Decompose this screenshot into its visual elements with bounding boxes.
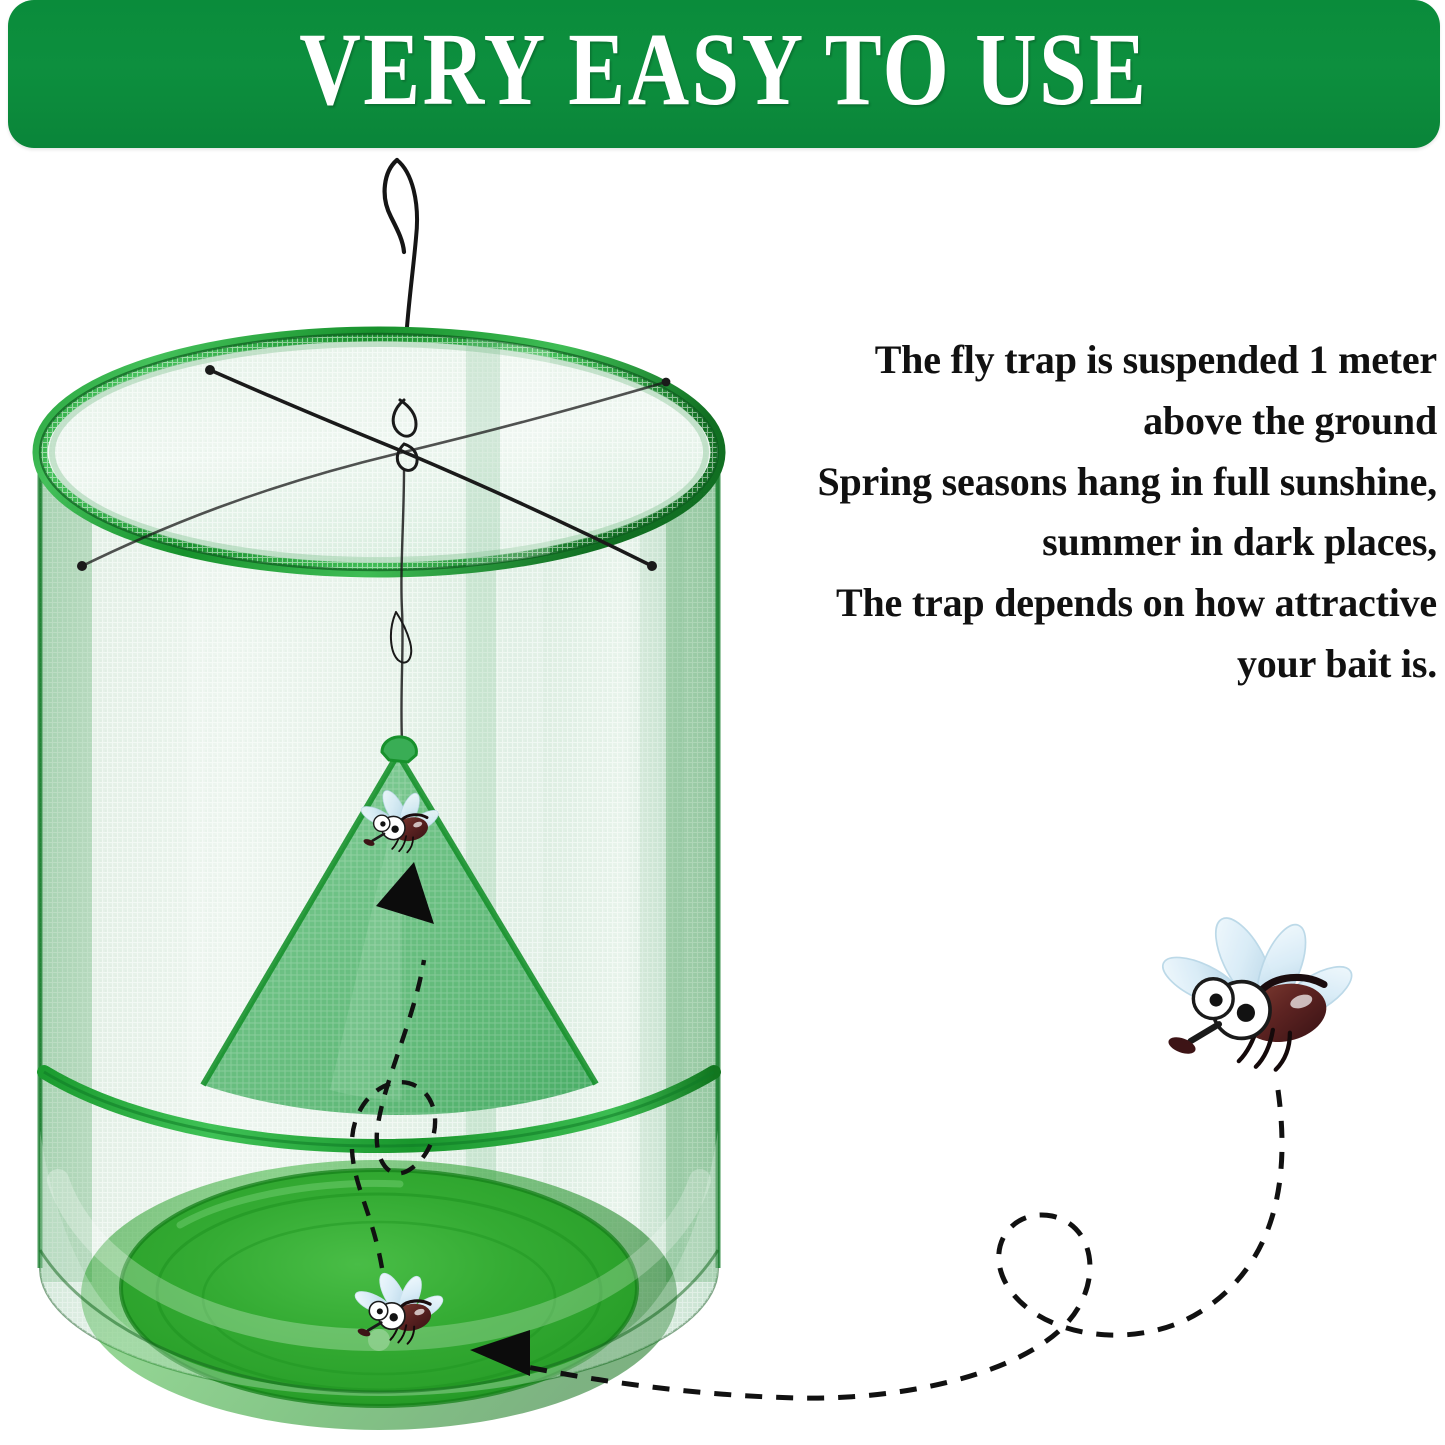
- instruction-line-5: The trap depends on how attractive: [797, 573, 1437, 634]
- fly-trap-illustration: [0, 0, 1445, 1445]
- infographic-page: VERY EASY TO USE The fly trap is suspend…: [0, 0, 1445, 1445]
- instruction-line-4: summer in dark places,: [797, 512, 1437, 573]
- page-title-text: VERY EASY TO USE: [299, 18, 1148, 122]
- fly-outside: [1156, 910, 1359, 1070]
- instruction-line-1: The fly trap is suspended 1 meter: [797, 330, 1437, 391]
- instruction-line-3: Spring seasons hang in full sunshine,: [797, 452, 1437, 513]
- trap-top-rim: [40, 334, 718, 570]
- instruction-line-2: above the ground: [797, 391, 1437, 452]
- page-title: VERY EASY TO USE: [8, 20, 1440, 124]
- instructions-block: The fly trap is suspended 1 meter above …: [797, 330, 1437, 695]
- instruction-line-6: your bait is.: [797, 634, 1437, 695]
- header-banner: VERY EASY TO USE: [8, 0, 1440, 148]
- fly-proboscis: [1166, 1024, 1219, 1057]
